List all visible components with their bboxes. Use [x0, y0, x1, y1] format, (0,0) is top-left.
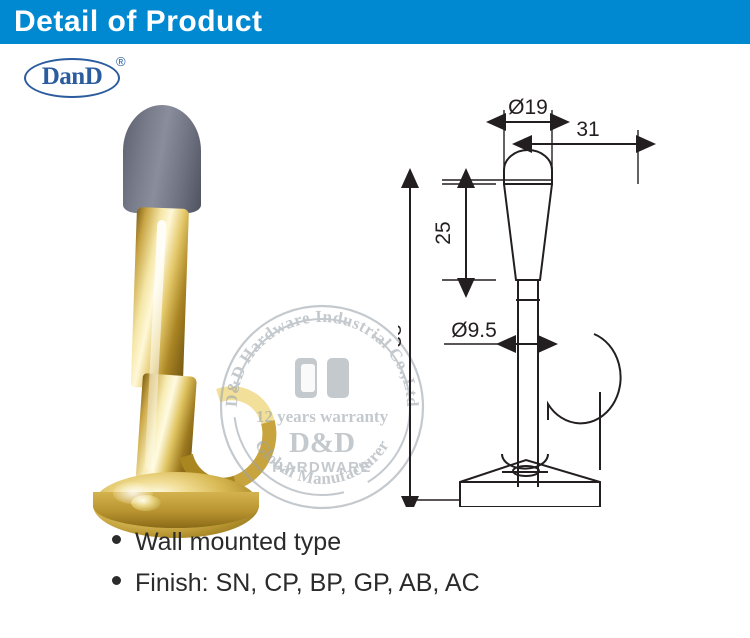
feature-list: Wall mounted type Finish: SN, CP, BP, GP…	[112, 528, 672, 610]
technical-drawing: Ø19 31 25 Ø9.5 88	[398, 92, 746, 507]
bullet-icon	[112, 535, 121, 544]
feature-text: Finish: SN, CP, BP, GP, AB, AC	[135, 569, 480, 598]
header-banner: Detail of Product	[0, 0, 750, 44]
registered-trademark-icon: ®	[116, 54, 126, 69]
dim-label-tip-height: 25	[432, 221, 455, 244]
logo-text: DanD	[24, 58, 120, 98]
page-title: Detail of Product	[14, 1, 263, 43]
dim-label-shaft-diameter: Ø9.5	[451, 319, 497, 342]
drawing-tip-body	[504, 184, 552, 280]
product-detail-page: Detail of Product DanD ® D&D Hardware In…	[0, 0, 750, 638]
brand-logo: DanD ®	[24, 58, 134, 102]
product-rubber-tip	[123, 105, 201, 213]
dim-label-diameter-top: Ø19	[508, 96, 548, 119]
dim-label-total-height: 88	[398, 324, 406, 347]
bullet-icon	[112, 576, 121, 585]
product-base-highlight	[113, 482, 153, 504]
feature-text: Wall mounted type	[135, 528, 341, 557]
drawing-hook	[548, 334, 621, 423]
product-photo	[55, 100, 305, 500]
feature-item: Finish: SN, CP, BP, GP, AB, AC	[112, 569, 672, 598]
drawing-tip-cap	[504, 150, 552, 184]
drawing-hook-lower	[502, 454, 548, 472]
dim-label-projection: 31	[576, 118, 599, 141]
feature-item: Wall mounted type	[112, 528, 672, 557]
